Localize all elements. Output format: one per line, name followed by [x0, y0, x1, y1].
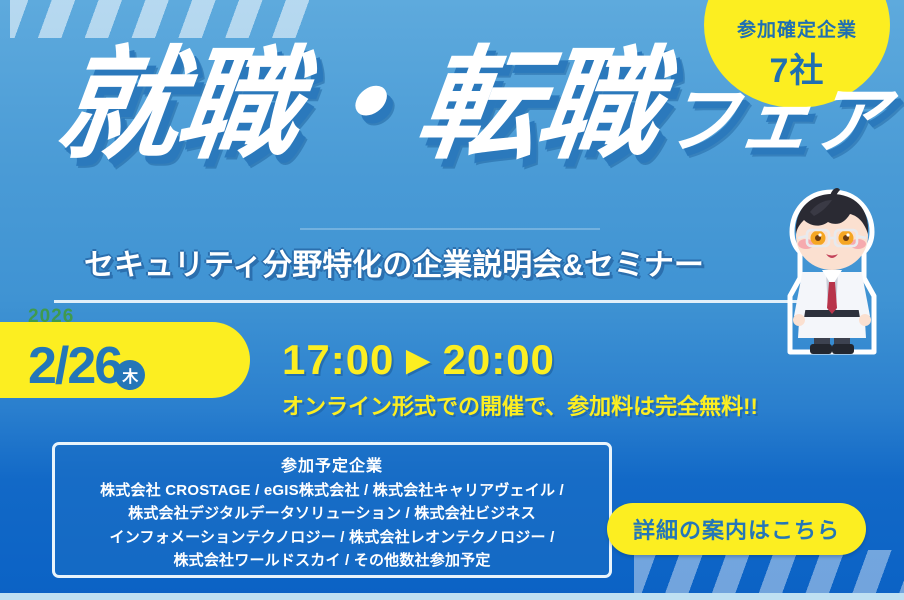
date-day-of-week: 木 — [115, 360, 145, 390]
page-title: 就職・転職 フェア — [58, 44, 886, 166]
time-start: 17:00 — [282, 336, 394, 384]
event-date-badge: 2026 2/26 木 — [0, 322, 250, 398]
date-year: 2026 — [28, 306, 74, 328]
horizontal-divider — [54, 300, 844, 303]
participating-companies-box: 参加予定企業 株式会社 CROSTAGE / eGIS株式会社 / 株式会社キャ… — [52, 442, 612, 578]
time-end: 20:00 — [443, 336, 555, 384]
date-month-day: 2/26 — [28, 340, 121, 392]
free-participation-note: オンライン形式での開催で、参加料は完全無料!! — [282, 389, 758, 421]
company-line: 株式会社ワールドスカイ / その他数社参加予定 — [63, 549, 601, 572]
diagonal-stripes-top-left — [10, 0, 310, 38]
companies-heading: 参加予定企業 — [63, 452, 601, 476]
title-main-text: 就職・転職 — [51, 44, 666, 166]
title-suffix-text: フェア — [659, 84, 891, 166]
arrow-right-icon: ▶ — [406, 343, 430, 378]
diagonal-stripes-bottom-right — [634, 550, 904, 596]
event-time: 17:00 ▶ 20:00 — [282, 336, 555, 384]
bottom-edge-band — [0, 593, 904, 600]
chibi-engineer-character-icon — [766, 186, 898, 362]
company-line: 株式会社デジタルデータソリューション / 株式会社ビジネス — [63, 502, 601, 525]
company-line: インフォメーションテクノロジー / 株式会社レオンテクノロジー / — [63, 526, 601, 549]
company-line: 株式会社 CROSTAGE / eGIS株式会社 / 株式会社キャリアヴェイル … — [63, 479, 601, 502]
secondary-divider — [300, 228, 600, 230]
event-banner: 参加確定企業 7社 就職・転職 フェア セキュリティ分野特化の企業説明会&セミナ… — [0, 0, 904, 600]
details-cta-button[interactable]: 詳細の案内はこちら — [607, 503, 866, 555]
badge-label: 参加確定企業 — [737, 15, 857, 42]
date-inner: 2026 2/26 木 — [28, 328, 145, 392]
subtitle-text: セキュリティ分野特化の企業説明会&セミナー — [84, 240, 704, 284]
